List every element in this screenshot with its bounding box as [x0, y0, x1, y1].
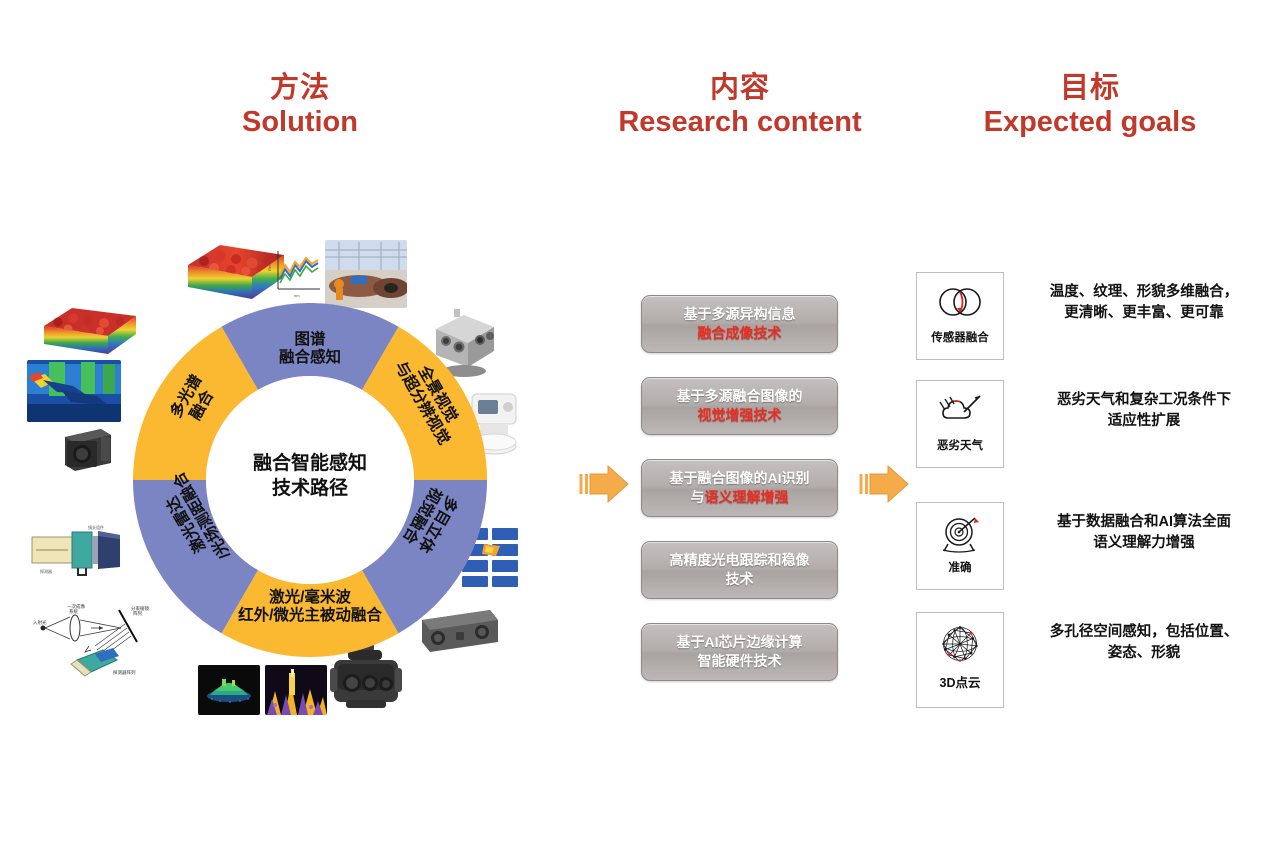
column-header-content: 内容 Research content: [570, 72, 910, 140]
diagram-canvas: 方法 Solution 内容 Research content 目标 Expec…: [0, 0, 1268, 866]
research-box-0-text: 基于多源异构信息 融合成像技术: [684, 305, 796, 343]
goal-row-0: 传感器融合 温度、纹理、形貌多维融合， 更清晰、更丰富、更可靠: [916, 272, 1256, 360]
sensor-fusion-venn-icon: [934, 282, 986, 326]
thermal-scene-image: [27, 360, 121, 422]
research-box-4-line2: 智能硬件技术: [698, 653, 782, 669]
research-box-2[interactable]: 基于融合图像的AI识别 与语义理解增强: [641, 459, 838, 517]
wheel-center-title: 融合智能感知 技术路径: [210, 451, 410, 501]
technology-roadmap-wheel: 图谱 融合感知 全景视觉 与超分辨视觉 多目立体 视觉融合 激光/毫米波 红外/…: [133, 303, 487, 657]
research-box-1-line2: 视觉增强技术: [698, 407, 782, 423]
goal-card-0-caption: 传感器融合: [931, 332, 989, 346]
research-box-1-line1: 基于多源融合图像的: [677, 388, 803, 404]
research-box-1[interactable]: 基于多源融合图像的 视觉增强技术: [641, 377, 838, 435]
research-box-3[interactable]: 高精度光电跟踪和稳像 技术: [641, 541, 838, 599]
svg-text:入射光: 入射光: [33, 619, 47, 626]
research-box-3-text: 高精度光电跟踪和稳像 技术: [670, 551, 810, 589]
header-content-cn: 内容: [570, 72, 910, 105]
research-box-2-line2b: 语义理解增强: [705, 489, 789, 505]
arrow-content-to-goals: [858, 462, 910, 506]
goal-card-2-caption: 准确: [949, 562, 972, 576]
goal-row-3: 3D点云 多孔径空间感知，包括位置、 姿态、形貌: [916, 612, 1256, 700]
header-goals-en: Expected goals: [940, 105, 1240, 140]
goal-card-3[interactable]: 3D点云: [916, 612, 1004, 708]
industrial-pipeline-photo: [325, 240, 407, 308]
goal-card-1[interactable]: 恶劣天气: [916, 380, 1004, 468]
optical-assembly-diagram: 镜头组件 探测器: [28, 523, 126, 579]
header-solution-cn: 方法: [140, 72, 460, 105]
header-content-en: Research content: [570, 105, 910, 140]
goal-row-1: 恶劣天气 恶劣天气和复杂工况条件下 适应性扩展: [916, 380, 1256, 468]
goal-card-1-caption: 恶劣天气: [937, 440, 983, 454]
goal-card-2[interactable]: 准确: [916, 502, 1004, 590]
research-box-4-line1: 基于AI芯片边缘计算: [677, 634, 803, 650]
column-header-goals: 目标 Expected goals: [940, 72, 1240, 140]
goal-text-0: 温度、纹理、形貌多维融合， 更清晰、更丰富、更可靠: [1028, 282, 1260, 323]
goal-card-0[interactable]: 传感器融合: [916, 272, 1004, 360]
goal-text-3: 多孔径空间感知，包括位置、 姿态、形貌: [1028, 622, 1260, 663]
research-box-0-line2: 融合成像技术: [698, 325, 782, 341]
svg-text:nm: nm: [294, 293, 300, 298]
goal-text-2: 基于数据融合和AI算法全面 语义理解力增强: [1028, 512, 1260, 553]
spectral-curve-plot: Ref nm: [268, 245, 324, 301]
arrow-solution-to-content: [578, 462, 630, 506]
research-box-2-text: 基于融合图像的AI识别 与语义理解增强: [670, 469, 810, 507]
research-box-4[interactable]: 基于AI芯片边缘计算 智能硬件技术: [641, 623, 838, 681]
research-box-3-line2: 技术: [726, 571, 754, 587]
accuracy-target-icon: [934, 512, 986, 556]
research-box-3-line1: 高精度光电跟踪和稳像: [670, 552, 810, 568]
column-header-solution: 方法 Solution: [140, 72, 460, 140]
hyperspectral-cube-left: [42, 300, 138, 364]
goal-card-3-caption: 3D点云: [940, 676, 981, 691]
research-box-4-text: 基于AI芯片边缘计算 智能硬件技术: [677, 633, 803, 671]
svg-text:Ref: Ref: [268, 264, 272, 271]
research-box-0[interactable]: 基于多源异构信息 融合成像技术: [641, 295, 838, 353]
research-box-1-text: 基于多源融合图像的 视觉增强技术: [677, 387, 803, 425]
point-cloud-polyhedron-icon: [934, 622, 986, 666]
research-box-0-line1: 基于多源异构信息: [684, 306, 796, 322]
goal-row-2: 准确 基于数据融合和AI算法全面 语义理解力增强: [916, 502, 1256, 590]
goal-text-1: 恶劣天气和复杂工况条件下 适应性扩展: [1028, 390, 1260, 431]
svg-text:探测器: 探测器: [40, 568, 52, 574]
header-solution-en: Solution: [140, 105, 460, 140]
research-box-2-line2a: 与: [691, 489, 705, 505]
svg-text:探测器阵列: 探测器阵列: [113, 669, 136, 676]
svg-text:系统: 系统: [69, 608, 78, 615]
infrared-camera-photo: [59, 425, 115, 473]
bad-weather-rain-icon: [934, 390, 986, 434]
lidar-pointcloud-image: [198, 665, 260, 715]
header-goals-cn: 目标: [940, 72, 1240, 105]
research-box-2-line1: 基于融合图像的AI识别: [670, 470, 810, 486]
svg-text:镜头组件: 镜头组件: [88, 524, 104, 530]
thermal-foliage-image: [265, 665, 327, 715]
